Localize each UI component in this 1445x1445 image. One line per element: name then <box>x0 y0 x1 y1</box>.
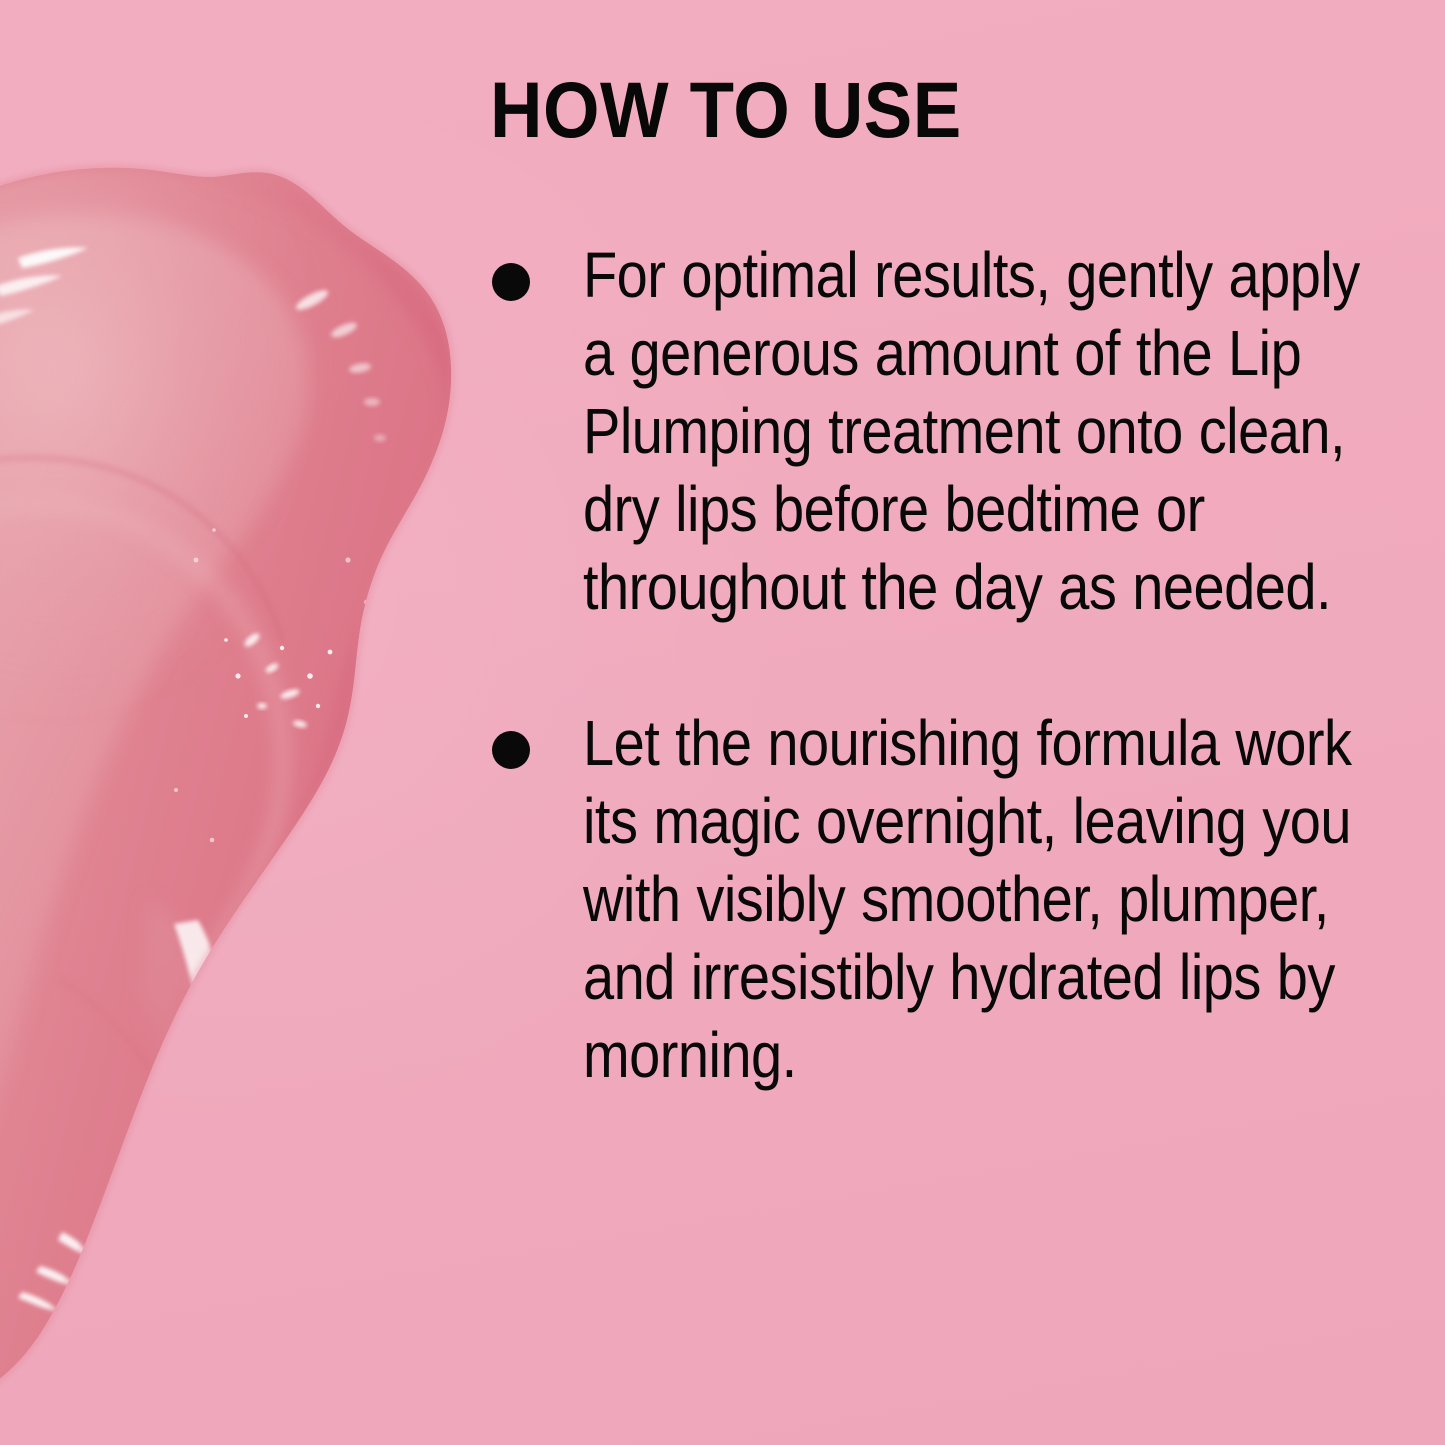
instructions-content: HOW TO USE For optimal results, gently a… <box>488 0 1368 1445</box>
lip-gloss-swatch-svg <box>0 0 480 1445</box>
instruction-step-1-text: For optimal results, gently apply a gene… <box>583 236 1362 626</box>
page-title: HOW TO USE <box>490 70 962 149</box>
product-instruction-card: HOW TO USE For optimal results, gently a… <box>0 0 1445 1445</box>
bullet-point-icon <box>492 263 530 301</box>
lip-gloss-swatch-image <box>0 0 480 1445</box>
highlight-tail-small <box>154 1060 176 1116</box>
list-item: For optimal results, gently apply a gene… <box>488 236 1368 626</box>
highlight-dash-5 <box>374 435 386 442</box>
list-item: Let the nourishing formula work its magi… <box>488 704 1368 1094</box>
bullet-point-icon <box>492 731 530 769</box>
highlight-dash-4 <box>364 398 380 406</box>
instruction-step-2-text: Let the nourishing formula work its magi… <box>583 704 1362 1094</box>
gloss-body-group <box>0 140 480 1440</box>
instruction-list: For optimal results, gently apply a gene… <box>488 236 1368 1094</box>
